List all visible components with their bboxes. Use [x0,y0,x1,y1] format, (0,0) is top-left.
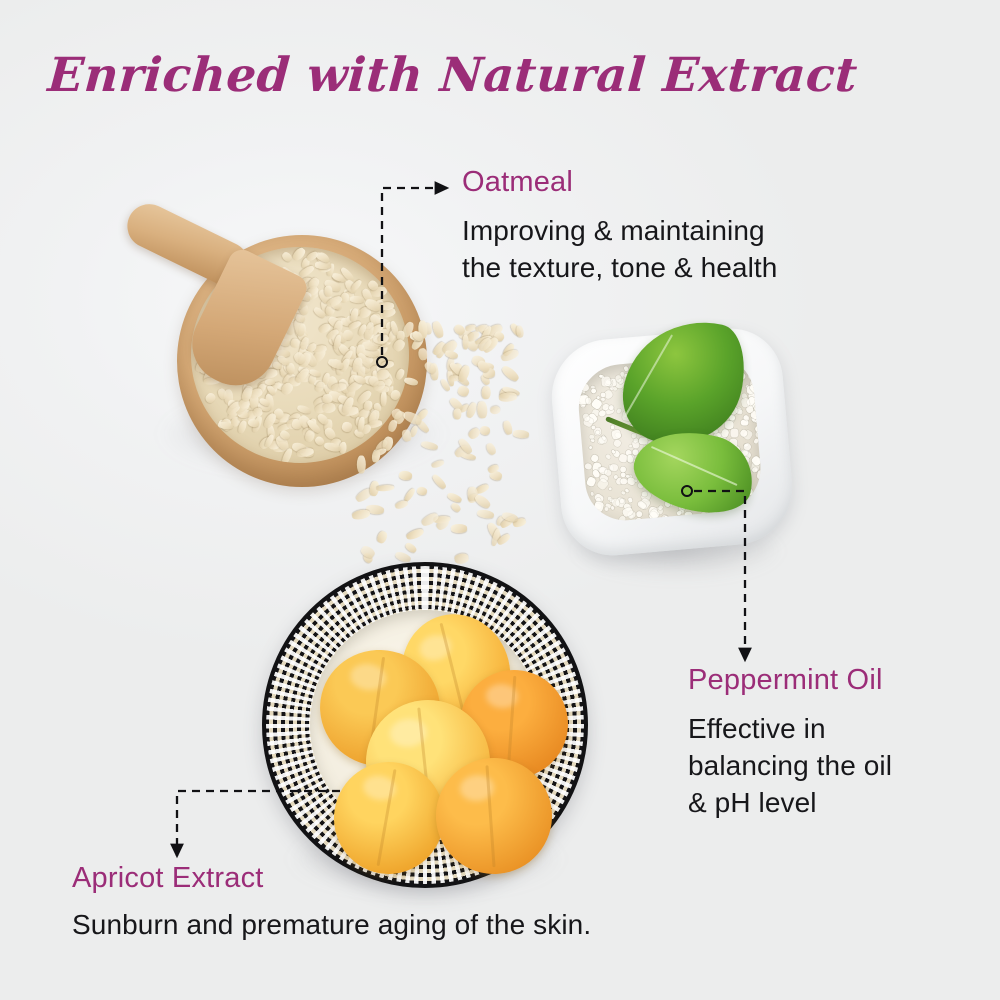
callout-oatmeal-line-1: Improving & maintaining [462,213,777,250]
callout-peppermint-line-3: & pH level [688,785,892,822]
infographic-canvas: Enriched with Natural Extract [0,0,1000,1000]
callout-oatmeal: Oatmeal Improving & maintaining the text… [462,166,777,287]
callout-apricot-line-1: Sunburn and premature aging of the skin. [72,907,591,944]
spilled-oats [340,325,525,565]
apricot-photo [262,562,588,888]
callout-apricot: Apricot Extract Sunburn and premature ag… [72,862,591,944]
callout-peppermint-title: Peppermint Oil [688,664,892,697]
callout-oatmeal-body: Improving & maintaining the texture, ton… [462,213,777,287]
callout-oatmeal-line-2: the texture, tone & health [462,250,777,287]
page-title: Enriched with Natural Extract [46,48,859,103]
callout-peppermint-line-2: balancing the oil [688,748,892,785]
peppermint-photo [548,322,808,590]
callout-peppermint-line-1: Effective in [688,711,892,748]
oatmeal-photo [115,205,515,565]
callout-oatmeal-title: Oatmeal [462,166,777,199]
callout-apricot-body: Sunburn and premature aging of the skin. [72,907,591,944]
callout-peppermint: Peppermint Oil Effective in balancing th… [688,664,892,822]
callout-peppermint-body: Effective in balancing the oil & pH leve… [688,711,892,822]
